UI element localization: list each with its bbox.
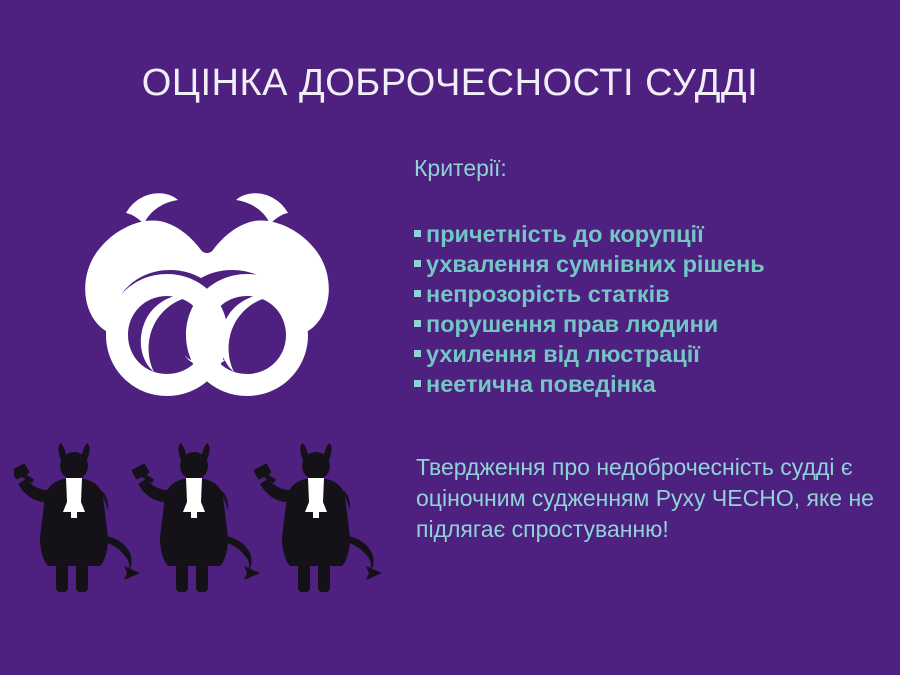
devil-judges-illustration	[14, 440, 414, 600]
square-bullet-icon	[414, 350, 421, 357]
criteria-label: Критерії:	[414, 155, 884, 183]
binoculars-icon	[52, 186, 362, 408]
devil-judge-figure-3	[253, 443, 382, 592]
list-item: непрозорість статків	[414, 279, 884, 309]
statement-paragraph: Твердження про недоброчесність судді є о…	[416, 452, 880, 544]
list-item: неетична поведінка	[414, 369, 884, 399]
presentation-slide: ОЦІНКА ДОБРОЧЕСНОСТІ СУДДІ	[0, 0, 900, 675]
devil-judge-figure-1	[14, 443, 140, 592]
square-bullet-icon	[414, 230, 421, 237]
square-bullet-icon	[414, 380, 421, 387]
list-item-label: неетична поведінка	[426, 369, 656, 399]
criteria-list: причетність до корупції ухвалення сумнів…	[414, 219, 884, 399]
list-item-label: порушення прав людини	[426, 309, 718, 339]
list-item-label: ухвалення сумнівних рішень	[426, 249, 765, 279]
square-bullet-icon	[414, 290, 421, 297]
devil-judge-figure-2	[131, 443, 260, 592]
criteria-block: Критерії: причетність до корупції ухвале…	[414, 155, 884, 399]
square-bullet-icon	[414, 320, 421, 327]
list-item: причетність до корупції	[414, 219, 884, 249]
list-item-label: ухилення від люстрації	[426, 339, 700, 369]
list-item: порушення прав людини	[414, 309, 884, 339]
list-item-label: причетність до корупції	[426, 219, 704, 249]
page-title: ОЦІНКА ДОБРОЧЕСНОСТІ СУДДІ	[0, 63, 900, 105]
list-item: ухилення від люстрації	[414, 339, 884, 369]
list-item: ухвалення сумнівних рішень	[414, 249, 884, 279]
list-item-label: непрозорість статків	[426, 279, 670, 309]
square-bullet-icon	[414, 260, 421, 267]
